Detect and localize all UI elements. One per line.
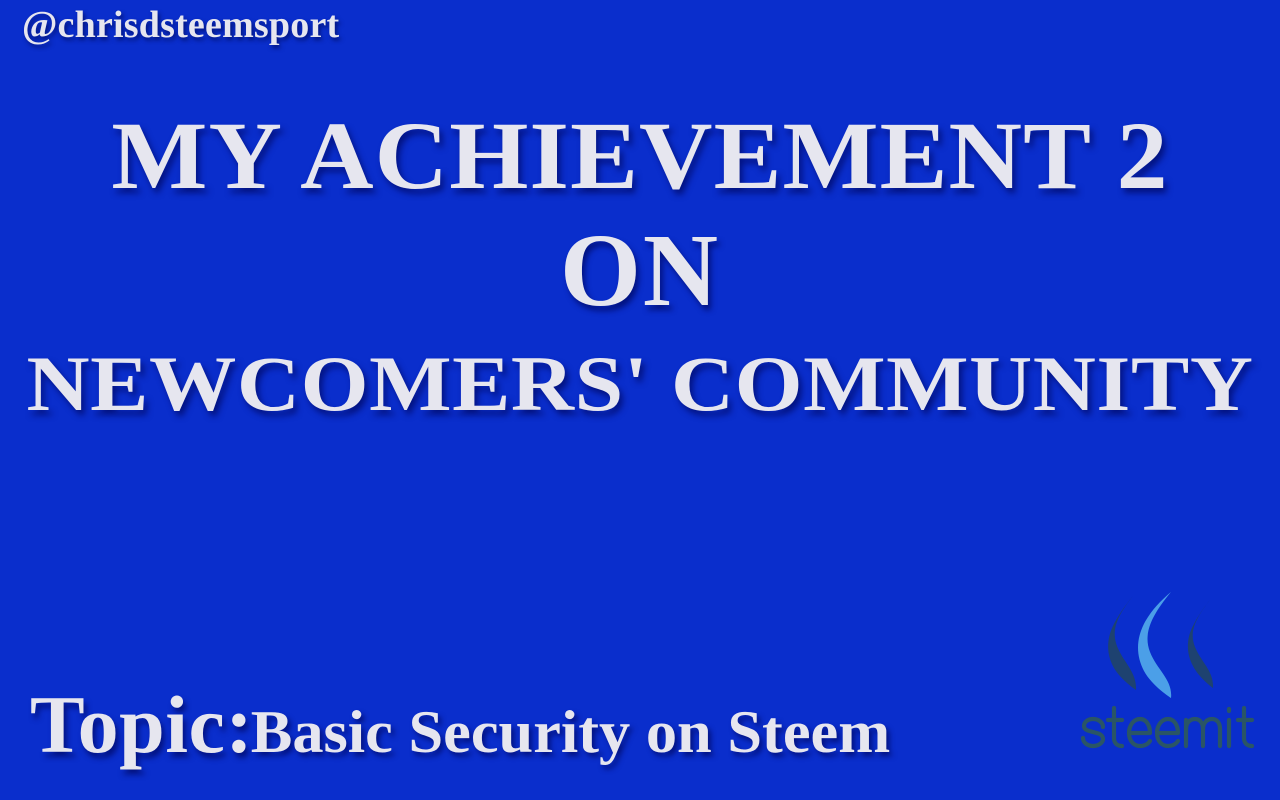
topic-label: Topic: xyxy=(30,684,253,766)
topic-value: Basic Security on Steem xyxy=(251,702,891,762)
topic-row: Topic: Basic Security on Steem xyxy=(30,684,878,766)
headline-line-3: NEWCOMERS' COMMUNITY xyxy=(0,338,1280,430)
steemit-wordmark xyxy=(1080,696,1256,758)
headline-line-1: MY ACHIEVEMENT 2 xyxy=(0,104,1280,208)
steemit-logo xyxy=(1080,592,1256,764)
achievement-banner: @chrisdsteemsport MY ACHIEVEMENT 2 ON NE… xyxy=(0,0,1280,800)
author-handle: @chrisdsteemsport xyxy=(22,0,339,50)
steemit-flame-icon xyxy=(1103,592,1233,698)
headline-line-2: ON xyxy=(0,212,1280,330)
headline-block: MY ACHIEVEMENT 2 ON NEWCOMERS' COMMUNITY xyxy=(0,104,1280,430)
